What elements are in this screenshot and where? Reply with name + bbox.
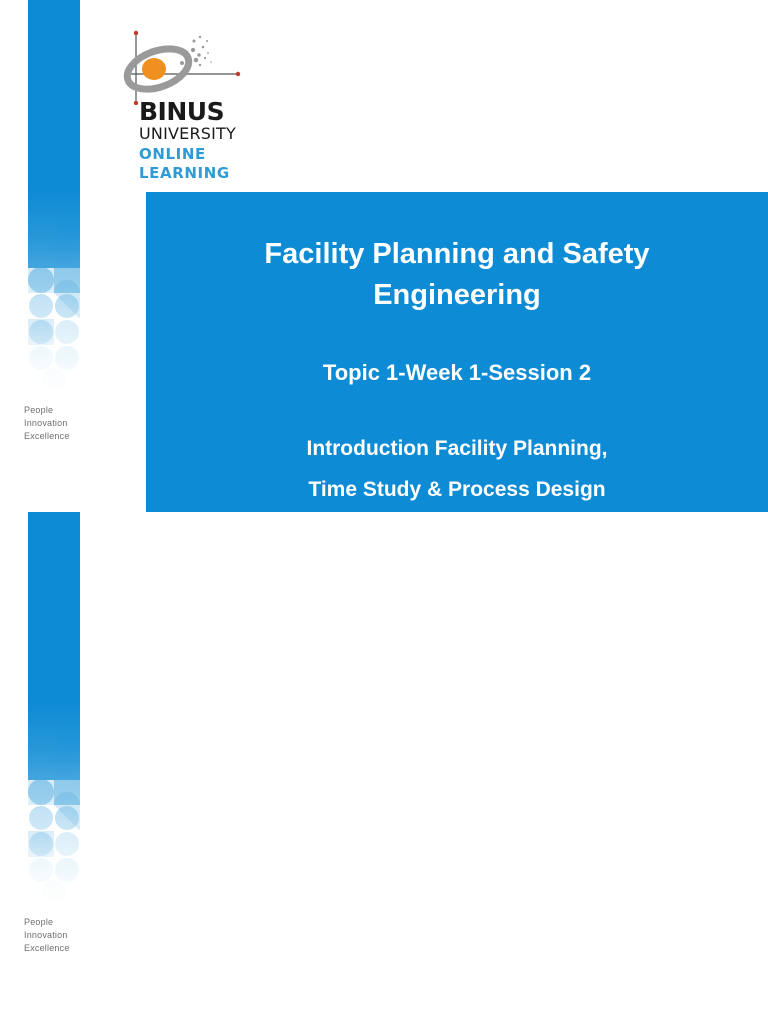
sidebar-circle-pattern	[18, 697, 90, 903]
logo-online-text: ONLINE	[139, 146, 206, 162]
course-subtitle-line-1: Introduction Facility Planning,	[146, 428, 768, 469]
slide-learning-outcome: People Innovation Excellence	[0, 512, 768, 1024]
logo-binus-text: BINUS	[139, 99, 224, 124]
course-subtitle: Introduction Facility Planning, Time Stu…	[146, 428, 768, 510]
logo-learning-text: LEARNING	[139, 165, 230, 181]
logo-university-text: UNIVERSITY	[139, 125, 236, 142]
tagline: People Innovation Excellence	[24, 404, 70, 443]
tagline-line-1: People	[24, 916, 70, 929]
slide-title-box: Facility Planning and Safety Engineering…	[146, 192, 768, 512]
binus-logo-mark-icon	[108, 25, 258, 105]
course-subtitle-line-2: Time Study & Process Design	[146, 469, 768, 510]
tagline-line-1: People	[24, 404, 70, 417]
sidebar-circle-pattern	[18, 185, 90, 391]
slide-title: People Innovation Excellence	[0, 0, 768, 512]
course-title-line-2: Engineering	[216, 275, 698, 316]
course-title: Facility Planning and Safety Engineering	[146, 234, 768, 316]
tagline-line-3: Excellence	[24, 942, 70, 955]
decorative-sidebar: People Innovation Excellence	[0, 512, 100, 1024]
topic-session-label: Topic 1-Week 1-Session 2	[146, 358, 768, 388]
tagline: People Innovation Excellence	[24, 916, 70, 955]
tagline-line-2: Innovation	[24, 929, 70, 942]
tagline-line-2: Innovation	[24, 417, 70, 430]
tagline-line-3: Excellence	[24, 430, 70, 443]
binus-logo: BINUS UNIVERSITY ONLINE LEARNING	[108, 25, 258, 165]
decorative-sidebar: People Innovation Excellence	[0, 0, 100, 512]
course-title-line-1: Facility Planning and Safety	[216, 234, 698, 275]
